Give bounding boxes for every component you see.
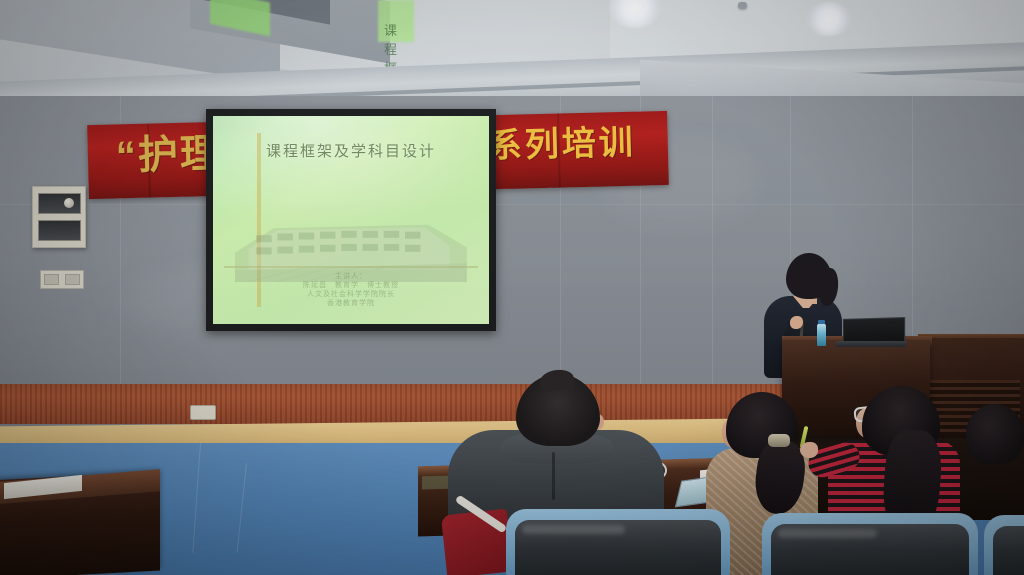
wall-streak [237, 463, 247, 553]
slide-subtitle-line: 陈延昌 教育学 博士教授 [213, 281, 489, 290]
slide-title: 课程框架及学科目设计 [213, 140, 489, 161]
ceiling-downlight [806, 2, 852, 36]
light-switch-rocker[interactable] [44, 274, 59, 285]
wall-seam-horizontal [0, 204, 1024, 205]
av-panel-slot [38, 193, 81, 214]
wall-outlet[interactable] [190, 405, 216, 420]
slide-horizontal-rule [224, 266, 478, 268]
projection-screen: 课程框架及学科目设计 [213, 116, 489, 324]
projection-screen-frame: 课程框架及学科目设计 [206, 109, 496, 331]
attendee-striped-hand [800, 442, 818, 458]
chair-highlight [522, 525, 625, 534]
attendee-hood-seam [552, 452, 555, 500]
hair-clip [768, 434, 790, 447]
slide-subtitle-line: 香港教育学院 [213, 299, 489, 308]
light-switch-rocker[interactable] [65, 274, 80, 285]
red-bag [441, 509, 513, 575]
auditorium-chair[interactable] [506, 509, 730, 575]
chair-back-pad [993, 526, 1024, 575]
presenter-hand [790, 316, 803, 329]
lecture-hall-photo: 课程框架及学科目设计 “护理… 系列培训 [0, 0, 1024, 575]
slide-building-image [235, 195, 467, 282]
av-panel-knob[interactable] [64, 198, 74, 208]
water-bottle [817, 324, 826, 346]
av-panel-slot [38, 220, 81, 241]
wall-streak [192, 443, 201, 553]
chair-highlight [778, 529, 877, 538]
attendee-far-right-hair [966, 404, 1024, 464]
wall-av-panel[interactable] [32, 186, 86, 248]
slide-subtitle: 主讲人： 陈延昌 教育学 博士教授 人文及社会科学学院院长 香港教育学院 [213, 272, 489, 308]
slide-subtitle-line: 主讲人： [213, 272, 489, 281]
auditorium-chair[interactable] [984, 515, 1024, 575]
banner-text-right: 系列培训 [487, 126, 636, 164]
auditorium-chair[interactable] [762, 513, 978, 575]
light-switch[interactable] [40, 270, 84, 289]
sprinkler-head [738, 2, 747, 9]
laptop-keyboard[interactable] [835, 341, 907, 347]
slide-subtitle-line: 人文及社会科学学院院长 [213, 290, 489, 299]
